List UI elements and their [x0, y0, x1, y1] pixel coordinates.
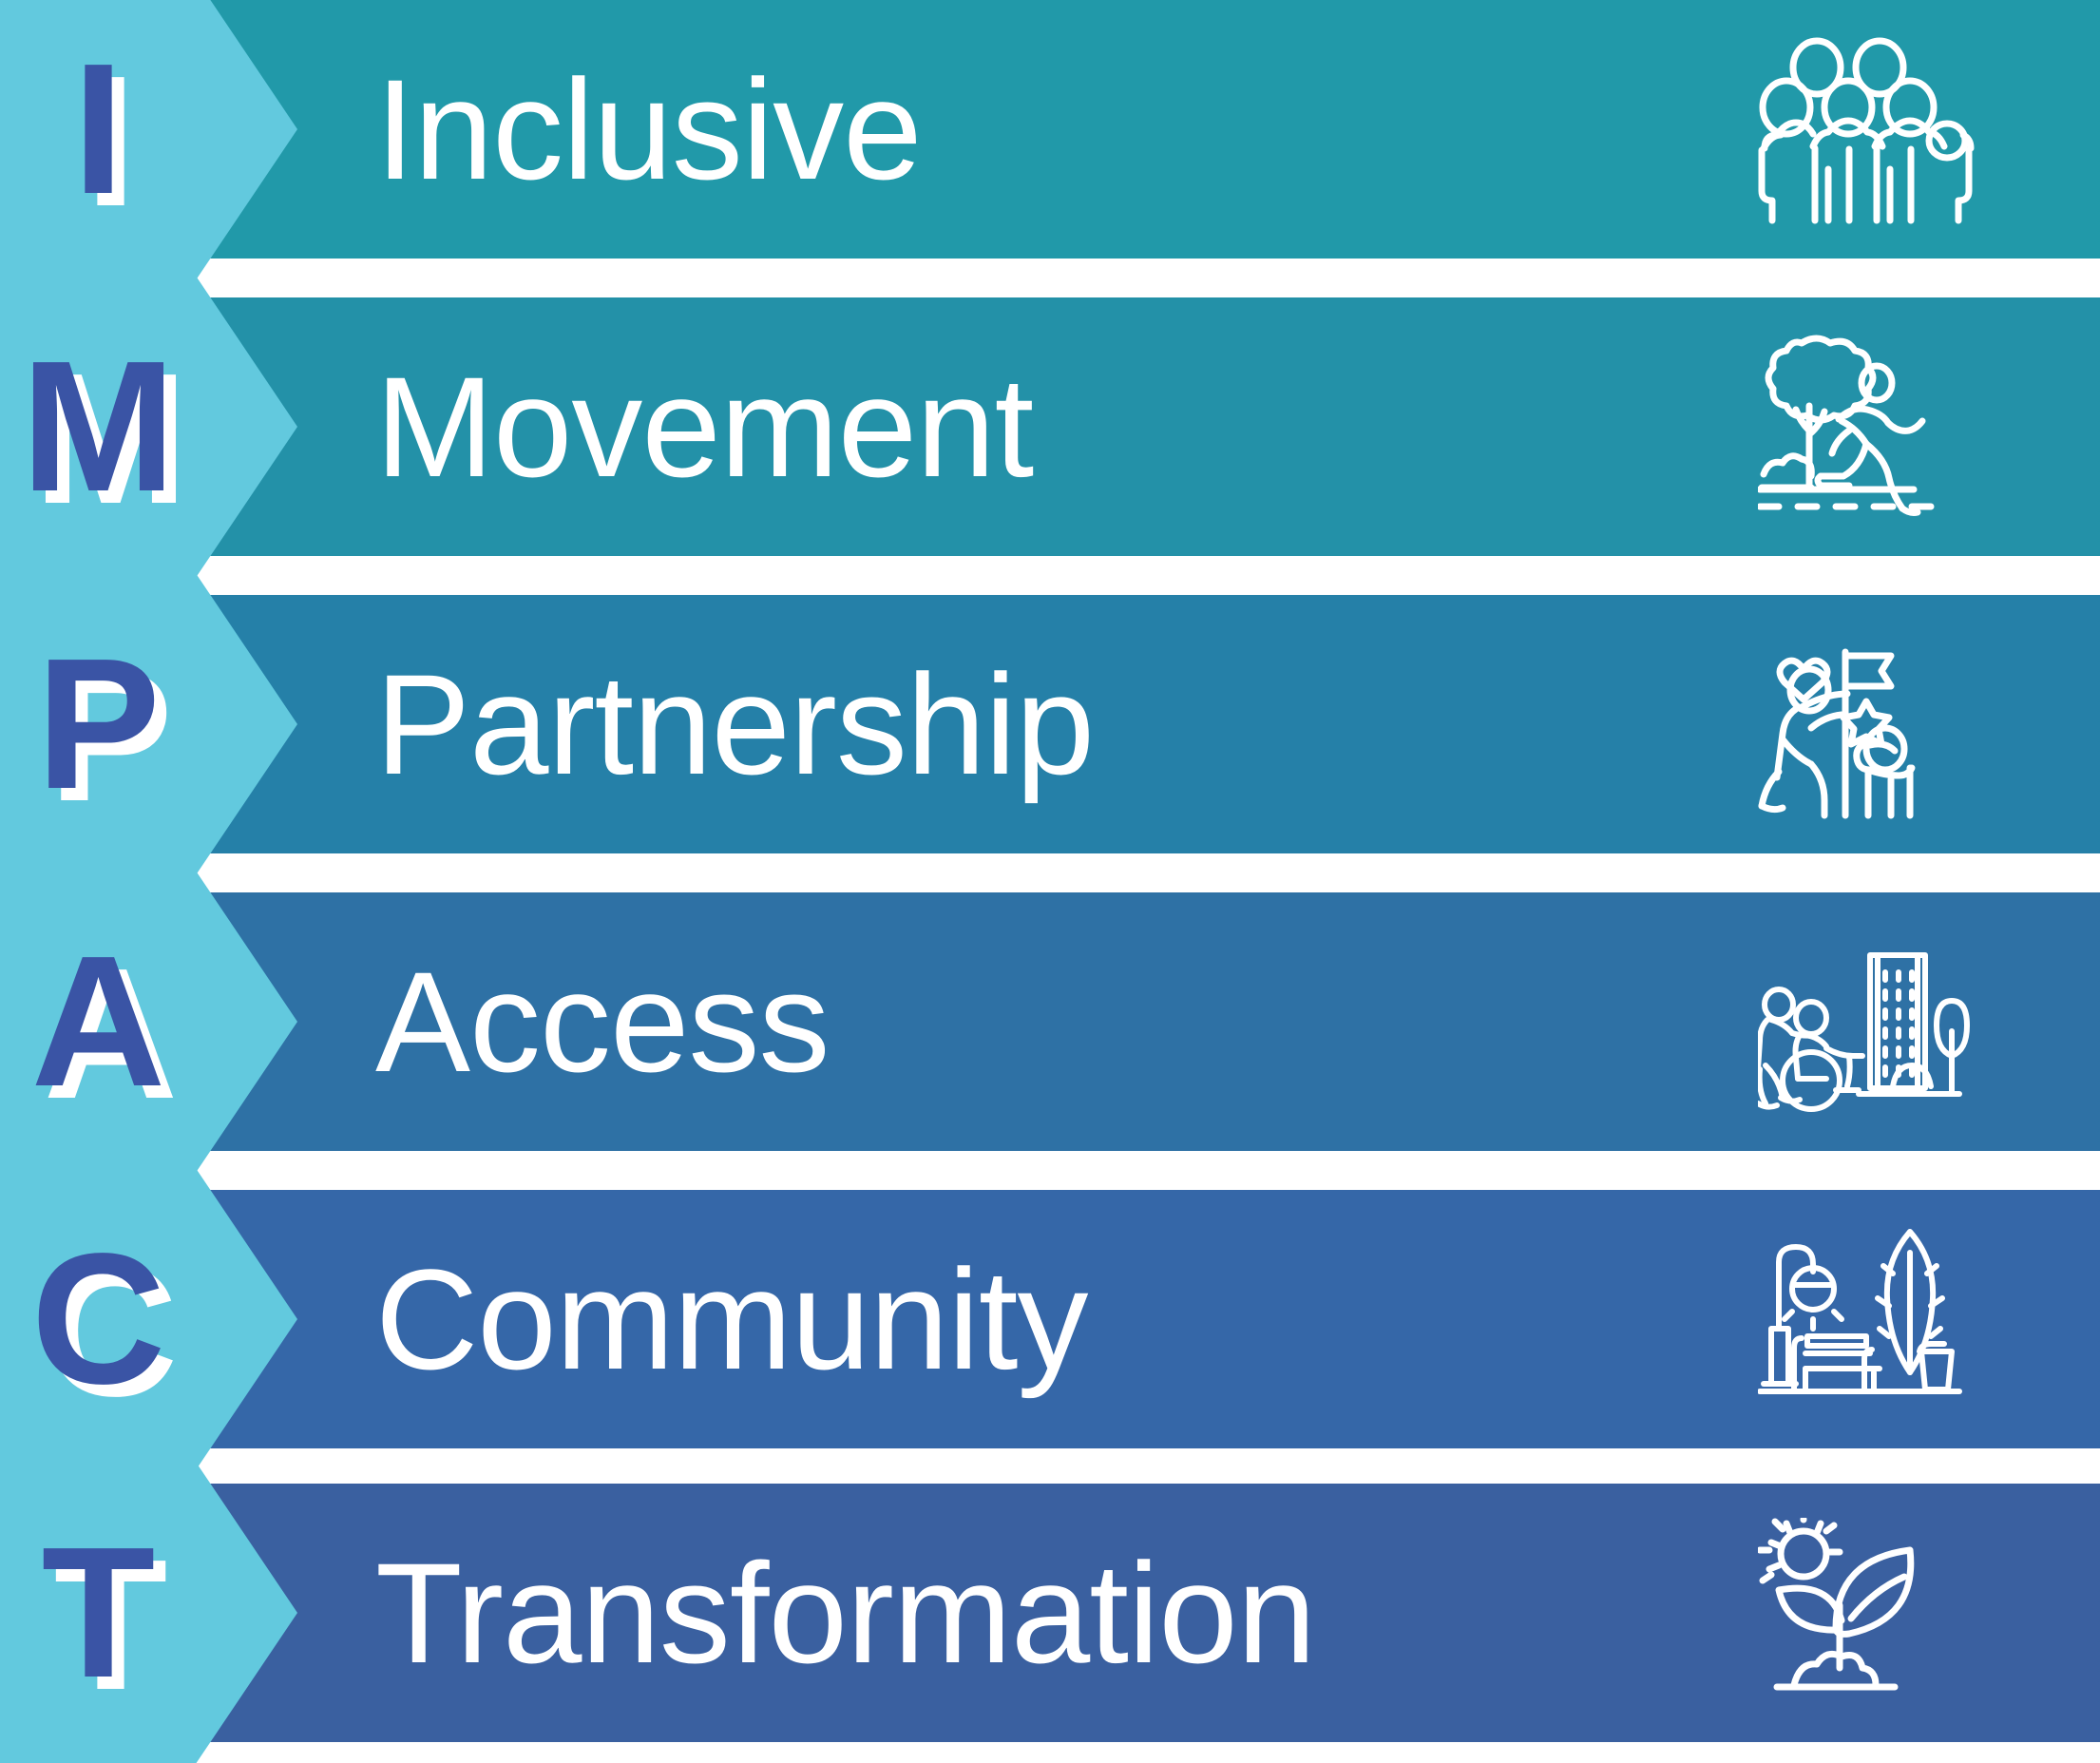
acrostic-row: T Transformation	[0, 1484, 2100, 1742]
acrostic-letter: I	[0, 0, 197, 279]
runner-with-tree-icon	[1758, 332, 1976, 522]
row-title: Movement	[375, 297, 1033, 556]
acrostic-row: P Partnership	[0, 595, 2100, 853]
group-of-people-icon	[1758, 34, 1976, 224]
impact-acrostic-graphic: I Inclusive	[0, 0, 2100, 1743]
wheelchair-building-icon	[1758, 927, 1976, 1117]
park-bench-lamp-icon	[1758, 1224, 1976, 1414]
seedling-sun-icon	[1758, 1518, 1976, 1708]
acrostic-row: A Access	[0, 892, 2100, 1151]
acrostic-letter: C	[0, 1169, 197, 1469]
row-title: Partnership	[375, 595, 1094, 853]
acrostic-row: C Community	[0, 1190, 2100, 1448]
acrostic-letter: T	[0, 1463, 197, 1763]
row-title: Community	[375, 1190, 1088, 1448]
row-title: Transformation	[375, 1484, 1315, 1742]
acrostic-letter: A	[0, 872, 197, 1172]
row-title: Inclusive	[375, 0, 922, 259]
row-title: Access	[375, 892, 829, 1151]
acrostic-row: M Movement	[0, 297, 2100, 556]
acrostic-letter: P	[0, 574, 197, 874]
two-people-flag-icon	[1758, 629, 1976, 819]
acrostic-row: I Inclusive	[0, 0, 2100, 259]
acrostic-letter: M	[0, 277, 197, 577]
